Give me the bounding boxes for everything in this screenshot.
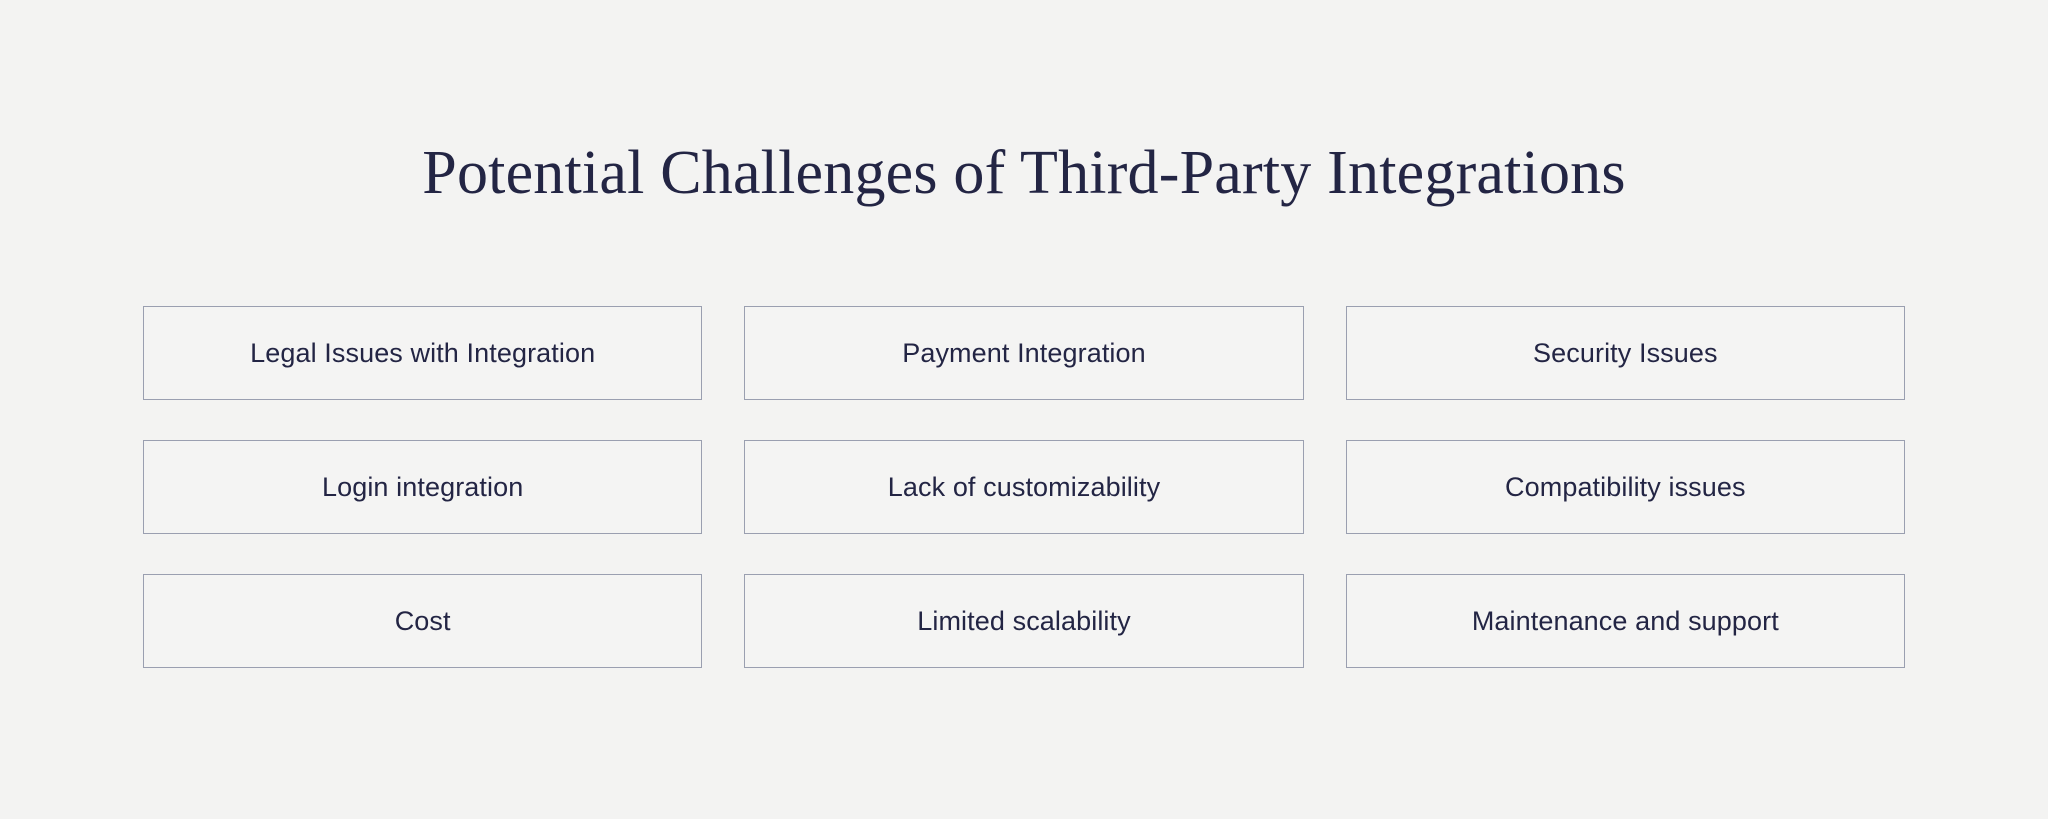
challenge-card[interactable]: Security Issues [1346, 306, 1905, 400]
challenge-card[interactable]: Maintenance and support [1346, 574, 1905, 668]
challenge-card-label: Compatibility issues [1505, 472, 1746, 503]
challenge-card[interactable]: Payment Integration [744, 306, 1303, 400]
challenge-card[interactable]: Limited scalability [744, 574, 1303, 668]
challenge-card-label: Security Issues [1533, 338, 1718, 369]
challenge-card-label: Payment Integration [902, 338, 1146, 369]
challenge-card-label: Limited scalability [917, 606, 1130, 637]
challenges-grid: Legal Issues with Integration Payment In… [143, 306, 1905, 668]
page-title: Potential Challenges of Third-Party Inte… [0, 138, 2048, 209]
challenge-card-label: Login integration [322, 472, 523, 503]
challenge-card[interactable]: Cost [143, 574, 702, 668]
challenge-card[interactable]: Login integration [143, 440, 702, 534]
challenge-card[interactable]: Lack of customizability [744, 440, 1303, 534]
challenge-card[interactable]: Legal Issues with Integration [143, 306, 702, 400]
challenge-card-label: Cost [395, 606, 451, 637]
slide-canvas: Potential Challenges of Third-Party Inte… [0, 0, 2048, 819]
challenge-card-label: Legal Issues with Integration [250, 338, 595, 369]
challenge-card-label: Maintenance and support [1472, 606, 1779, 637]
challenge-card-label: Lack of customizability [888, 472, 1160, 503]
challenge-card[interactable]: Compatibility issues [1346, 440, 1905, 534]
